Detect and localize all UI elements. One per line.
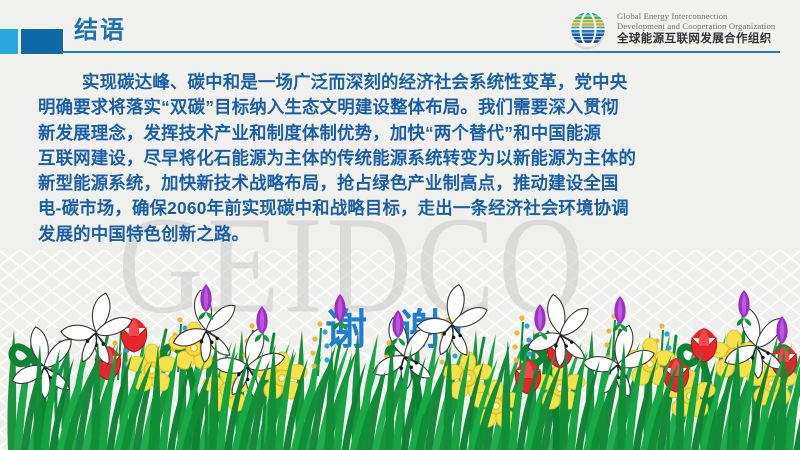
- body-line: 实现碳达峰、碳中和是一场广泛而深刻的经济社会系统性变革，党中央: [38, 70, 780, 95]
- organization-logo: Global Energy Interconnection Developmen…: [566, 6, 794, 52]
- body-line: 明确要求将落实“双碳”目标纳入生态文明建设整体布局。我们需要深入贯彻: [38, 95, 780, 120]
- body-line: 新型能源系统，加快新技术战略布局，抢占绿色产业制高点，推动建设全国: [38, 171, 780, 196]
- header-accent-square-dark: [21, 29, 63, 54]
- body-line: 电-碳市场，确保2060年前实现碳中和战略目标，走出一条经济社会环境协调: [38, 196, 780, 221]
- body-line: 新发展理念，发挥技术产业和制度体制优势，加快“两个替代”和中国能源: [38, 121, 780, 146]
- body-paragraph: 实现碳达峰、碳中和是一场广泛而深刻的经济社会系统性变革，党中央 明确要求将落实“…: [38, 70, 780, 247]
- flower-border: [0, 260, 800, 450]
- slide-canvas: GEIDCO 结语: [0, 0, 800, 450]
- header-accent-square-light: [0, 29, 18, 54]
- body-line: 发展的中国特色创新之路。: [38, 222, 780, 247]
- globe-icon: [566, 7, 610, 51]
- logo-text-block: Global Energy Interconnection Developmen…: [617, 12, 775, 46]
- page-title: 结语: [74, 18, 126, 44]
- logo-en-line-2: Development and Cooperation Organization: [617, 22, 775, 32]
- body-line: 互联网建设，尽早将化石能源为主体的传统能源系统转变为以新能源为主体的: [38, 146, 780, 171]
- logo-cn-line: 全球能源互联网发展合作组织: [617, 33, 775, 46]
